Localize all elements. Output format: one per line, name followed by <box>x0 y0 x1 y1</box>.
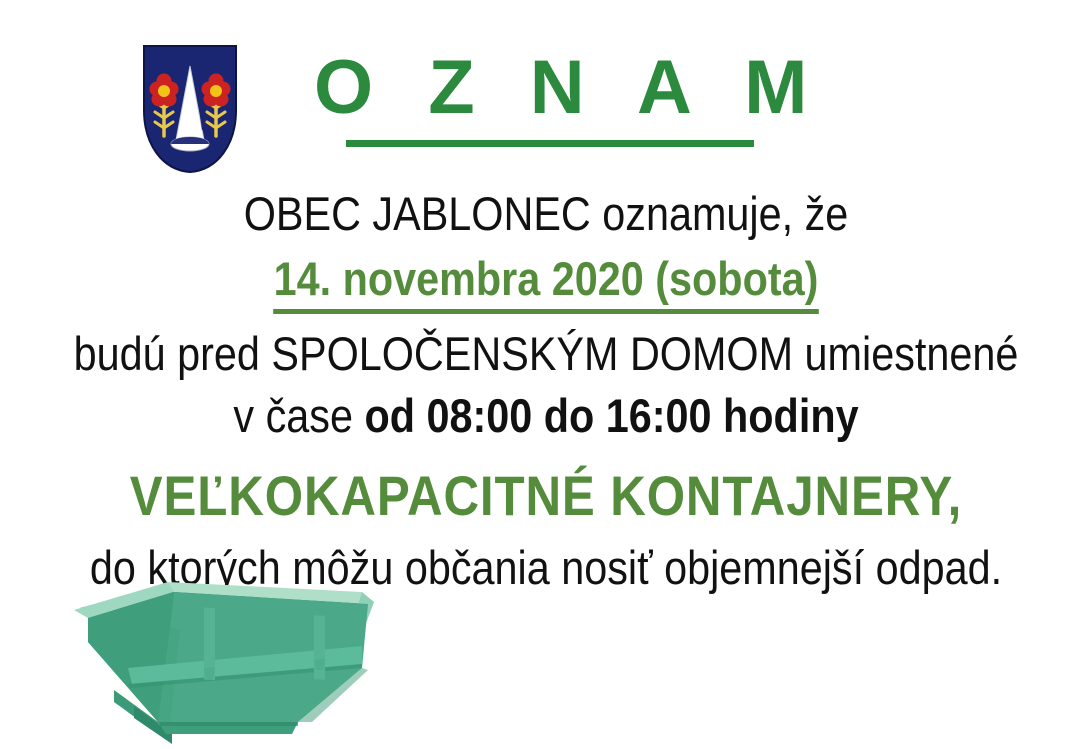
title-underline <box>346 140 754 147</box>
page-title-text: O Z N A M <box>300 50 800 126</box>
poster-root: O Z N A M OBEC JABLONEC oznamuje, že 14.… <box>0 0 1092 749</box>
time-prefix: v čase <box>233 389 364 442</box>
line-announce: OBEC JABLONEC oznamuje, že <box>66 184 1027 244</box>
line-highlight: VEĽKOKAPACITNÉ KONTAJNERY, <box>66 460 1027 532</box>
page-title: O Z N A M <box>300 50 800 147</box>
line-place: budú pred SPOLOČENSKÝM DOMOM umiestnené <box>66 324 1027 384</box>
event-date: 14. novembra 2020 (sobota) <box>274 252 819 314</box>
coat-of-arms-icon <box>142 44 238 174</box>
time-value: od 08:00 do 16:00 hodiny <box>364 389 858 442</box>
announcement-body: OBEC JABLONEC oznamuje, že 14. novembra … <box>0 184 1092 598</box>
line-time: v čase od 08:00 do 16:00 hodiny <box>66 386 1027 446</box>
poster-header: O Z N A M <box>0 26 1092 186</box>
line-date: 14. novembra 2020 (sobota) <box>66 248 1027 310</box>
skip-container-icon <box>62 572 382 744</box>
